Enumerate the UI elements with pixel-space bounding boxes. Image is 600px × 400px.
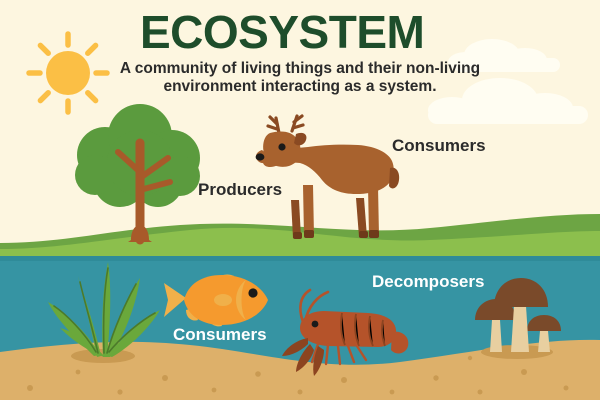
page-title: ECOSYSTEM xyxy=(140,6,424,59)
shrimp-eye xyxy=(312,321,319,328)
label-consumers-land: Consumers xyxy=(392,136,486,156)
page-subtitle: A community of living things and their n… xyxy=(100,60,500,96)
water-surface-band xyxy=(0,256,600,261)
fish-eye xyxy=(248,288,257,297)
label-consumers-water: Consumers xyxy=(173,325,267,345)
deer-nose xyxy=(256,153,265,160)
fish-side-fin xyxy=(214,294,232,306)
label-producers: Producers xyxy=(198,180,282,200)
deer-eye xyxy=(278,143,285,150)
sun-icon xyxy=(29,34,107,112)
label-decomposers: Decomposers xyxy=(372,272,484,292)
ecosystem-infographic: ECOSYSTEM A community of living things a… xyxy=(0,0,600,400)
